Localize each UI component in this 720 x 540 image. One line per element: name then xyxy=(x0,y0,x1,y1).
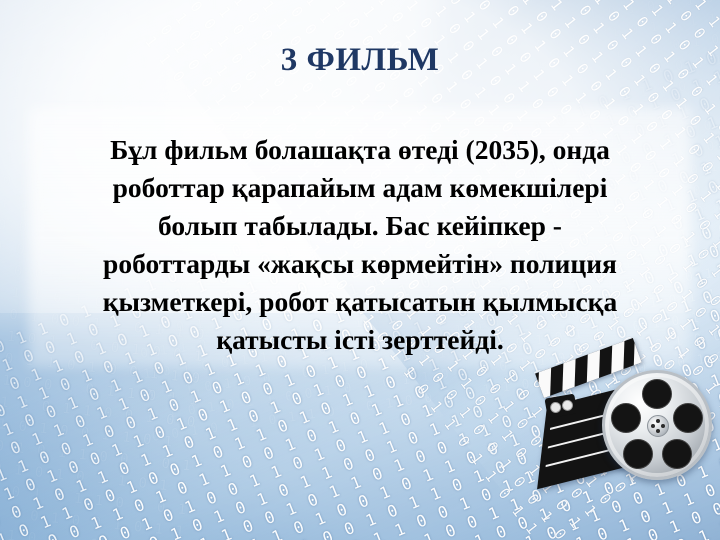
body-line-3: болып табылады. Бас кейіпкер - xyxy=(28,207,692,245)
body-line-5: қызметкері, робот қатысатын қылмысқа xyxy=(28,283,692,321)
film-reel-hub xyxy=(647,415,669,437)
film-reel-hole xyxy=(611,403,641,433)
film-reel-hole xyxy=(673,403,703,433)
slide-title: 3 ФИЛЬМ xyxy=(0,42,720,79)
body-line-2: роботтар қарапайым адам көмекшілері xyxy=(28,169,692,207)
film-reel-icon xyxy=(602,370,712,480)
cinema-artwork xyxy=(536,352,712,492)
film-reel-hole xyxy=(662,439,692,469)
body-line-1: Бұл фильм болашақта өтеді (2035), онда xyxy=(28,131,692,169)
presentation-slide: 1 0 1 0 0 1 1 0 1 0 1 1 0 0 1 0 1 0 1 1 … xyxy=(0,0,720,540)
film-reel-hole xyxy=(623,439,653,469)
slide-body-text: Бұл фильм болашақта өтеді (2035), онда р… xyxy=(28,131,692,359)
body-line-4: роботтарды «жақсы көрмейтін» полиция xyxy=(28,245,692,283)
film-reel-hole xyxy=(642,379,672,409)
